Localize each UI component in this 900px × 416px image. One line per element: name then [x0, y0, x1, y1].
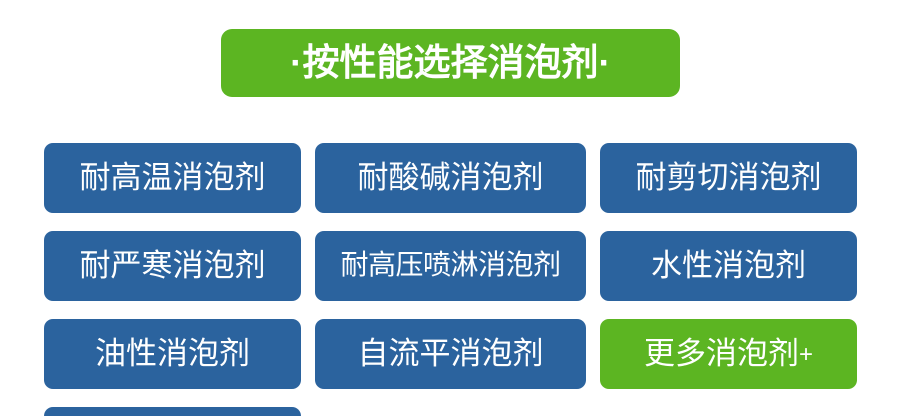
- category-button-more-defoamers[interactable]: 更多消泡剂+: [600, 319, 857, 389]
- category-row-clipped: [44, 407, 857, 416]
- category-button-shear-resistant[interactable]: 耐剪切消泡剂: [600, 143, 857, 213]
- plus-icon: +: [799, 341, 813, 368]
- panel-header-banner: ·按性能选择消泡剂·: [221, 29, 680, 97]
- category-button-oil-based[interactable]: 油性消泡剂: [44, 319, 301, 389]
- category-button-label: 水性消泡剂: [651, 250, 806, 281]
- defoamer-category-panel: ·按性能选择消泡剂· 耐高温消泡剂 耐酸碱消泡剂 耐剪切消泡剂 耐严寒消泡剂 耐…: [0, 0, 900, 416]
- category-button-high-pressure-spray-resistant[interactable]: 耐高压喷淋消泡剂: [315, 231, 586, 301]
- category-button-label: 更多消泡剂+: [644, 338, 813, 369]
- category-button-heat-resistant[interactable]: 耐高温消泡剂: [44, 143, 301, 213]
- category-button-self-leveling[interactable]: 自流平消泡剂: [315, 319, 586, 389]
- category-row: 耐严寒消泡剂 耐高压喷淋消泡剂 水性消泡剂: [44, 231, 857, 301]
- category-row: 油性消泡剂 自流平消泡剂 更多消泡剂+: [44, 319, 857, 389]
- category-button-label: 耐严寒消泡剂: [80, 250, 266, 281]
- category-button-grid: 耐高温消泡剂 耐酸碱消泡剂 耐剪切消泡剂 耐严寒消泡剂 耐高压喷淋消泡剂 水性消…: [44, 143, 857, 416]
- category-button-label: 耐高温消泡剂: [80, 162, 266, 193]
- category-button-label: 耐酸碱消泡剂: [358, 162, 544, 193]
- category-button-next-row-partial[interactable]: [44, 407, 301, 416]
- category-button-label: 油性消泡剂: [95, 338, 250, 369]
- category-button-label: 耐高压喷淋消泡剂: [340, 251, 560, 279]
- category-row: 耐高温消泡剂 耐酸碱消泡剂 耐剪切消泡剂: [44, 143, 857, 213]
- page-title: ·按性能选择消泡剂·: [290, 44, 611, 81]
- category-button-water-based[interactable]: 水性消泡剂: [600, 231, 857, 301]
- category-button-label: 自流平消泡剂: [358, 338, 544, 369]
- category-button-cold-resistant[interactable]: 耐严寒消泡剂: [44, 231, 301, 301]
- more-label-text: 更多消泡剂: [644, 336, 799, 371]
- category-button-acid-alkali-resistant[interactable]: 耐酸碱消泡剂: [315, 143, 586, 213]
- category-button-label: 耐剪切消泡剂: [636, 162, 822, 193]
